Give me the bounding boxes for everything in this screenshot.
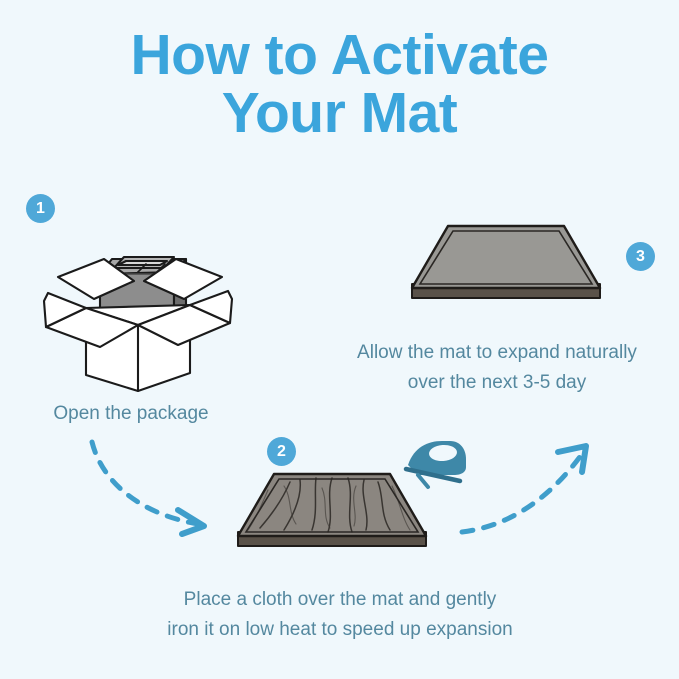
- step-3-caption: Allow the mat to expand naturally over t…: [318, 338, 676, 398]
- expanded-mat-illustration: [406, 218, 606, 317]
- arrow-step2-to-step3-icon: [458, 438, 598, 543]
- step-1-caption: Open the package: [0, 399, 262, 429]
- title-line-1: How to Activate: [0, 26, 679, 84]
- open-package-illustration: [38, 215, 238, 400]
- step-badge-3: 3: [626, 242, 655, 271]
- title-line-2: Your Mat: [0, 84, 679, 142]
- page-title: How to Activate Your Mat: [0, 26, 679, 142]
- arrow-step1-to-step2-icon: [86, 438, 226, 543]
- infographic-canvas: How to Activate Your Mat 1: [0, 0, 679, 679]
- mat-with-cloth-illustration: [232, 466, 432, 565]
- step-badge-2: 2: [267, 437, 296, 466]
- step-2-caption: Place a cloth over the mat and gently ir…: [98, 585, 582, 645]
